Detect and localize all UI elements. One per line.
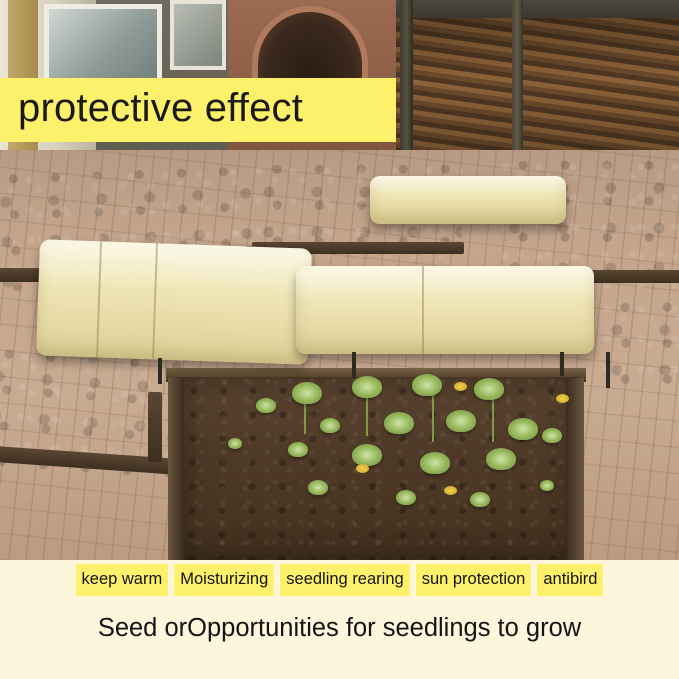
- seedling: [384, 412, 414, 434]
- feature-tag-seedling-rearing: seedling rearing: [280, 564, 409, 596]
- feature-tag-keep-warm: keep warm: [76, 564, 169, 596]
- cover-highlight: [38, 239, 311, 295]
- bed-leg: [606, 352, 610, 388]
- garden-photo: protective effect: [0, 0, 679, 560]
- cover-highlight: [296, 266, 594, 301]
- seedling-bed-frame-right: [566, 378, 584, 560]
- seedling: [256, 398, 276, 413]
- seedling: [412, 374, 442, 396]
- seedling: [396, 490, 416, 505]
- garden-bed-cover-large: [36, 239, 312, 364]
- seedling: [308, 480, 328, 495]
- seedling: [474, 378, 504, 400]
- seedling: [288, 442, 308, 457]
- seedling-stem: [492, 396, 494, 442]
- cover-seam: [422, 266, 424, 354]
- garden-bed-cover-medium: [296, 266, 594, 354]
- yellow-flower: [356, 464, 369, 473]
- shed-post-middle: [512, 0, 523, 168]
- footer-banner: Seed orOpportunities for seedlings to gr…: [0, 598, 679, 679]
- seedling: [542, 428, 562, 443]
- soil-texture: [174, 377, 581, 560]
- window-secondary: [170, 0, 226, 70]
- seedling: [446, 410, 476, 432]
- seedling-stem: [366, 392, 368, 436]
- seedling: [292, 382, 322, 404]
- yellow-flower: [444, 486, 457, 495]
- cover-highlight: [370, 176, 566, 195]
- footer-caption: Seed orOpportunities for seedlings to gr…: [98, 614, 581, 643]
- seedling: [420, 452, 450, 474]
- seedling-bed: [174, 377, 581, 560]
- seedling: [540, 480, 554, 491]
- feature-tag-list: keep warm Moisturizing seedling rearing …: [0, 562, 679, 598]
- seedling-stem: [432, 392, 434, 442]
- bed-leg: [352, 352, 356, 378]
- shed-roofline: [396, 0, 679, 18]
- seedling: [228, 438, 242, 449]
- seedling: [352, 376, 382, 398]
- feature-tag-antibird: antibird: [537, 564, 603, 596]
- seedling: [320, 418, 340, 433]
- feature-tag-sun-protection: sun protection: [416, 564, 532, 596]
- yellow-flower: [556, 394, 569, 403]
- garden-bed-cover-small: [370, 176, 566, 224]
- seedling: [508, 418, 538, 440]
- feature-tag-moisturizing: Moisturizing: [174, 564, 274, 596]
- seedling-bed-frame-left: [168, 378, 184, 560]
- seedling: [470, 492, 490, 507]
- bed-leg: [560, 352, 564, 376]
- bed-leg: [158, 358, 162, 384]
- bed-frame-lower-left-end: [148, 392, 162, 462]
- headline: protective effect: [18, 86, 303, 131]
- seedling: [486, 448, 516, 470]
- garden-bed-greens-right-edge: [600, 300, 679, 390]
- product-image: protective effect keep warm Moisturizing…: [0, 0, 679, 679]
- yellow-flower: [454, 382, 467, 391]
- seedling: [352, 444, 382, 466]
